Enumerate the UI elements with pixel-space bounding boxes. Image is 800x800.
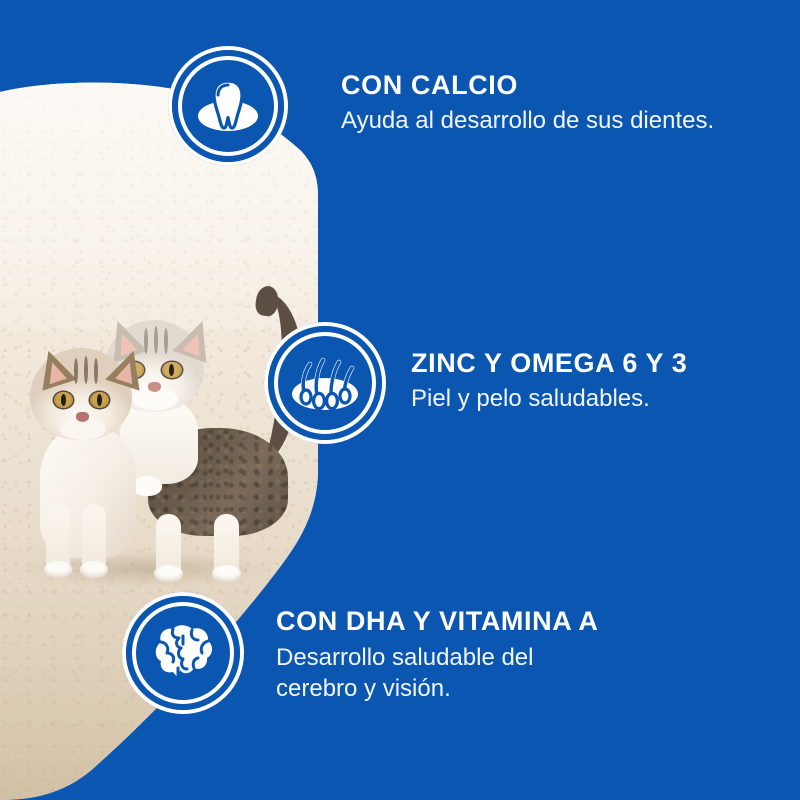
dha-subtitle-line2: cerebro y visión.: [276, 673, 599, 705]
kitten-paw: [44, 561, 72, 578]
hair-follicle-icon: [289, 352, 361, 414]
zinc-subtitle: Piel y pelo saludables.: [411, 383, 687, 415]
calcium-subtitle: Ayuda al desarrollo de sus dientes.: [341, 105, 714, 137]
dha-subtitle: Desarrollo saludable del cerebro y visió…: [276, 642, 599, 705]
kitten-leg: [214, 514, 239, 580]
kitten-forehead-stripe: [94, 358, 98, 384]
kitten-ear-right: [105, 345, 150, 390]
badge-inner-disc: [274, 332, 376, 434]
tooth-icon: [195, 76, 261, 136]
dha-subtitle-line1: Desarrollo saludable del: [276, 644, 533, 671]
kitten-leg: [46, 504, 70, 576]
zinc-subtitle-line1: Piel y pelo saludables.: [411, 385, 650, 412]
badge-inner-disc: [178, 56, 278, 156]
kitten-paw: [212, 565, 241, 582]
kitten-paw: [80, 561, 108, 578]
badge-inner-disc: [132, 602, 234, 704]
dha-icon-badge: [122, 592, 244, 714]
calcium-text-block: CON CALCIO Ayuda al desarrollo de sus di…: [341, 71, 714, 137]
dha-title: CON DHA Y VITAMINA A: [276, 607, 599, 635]
kitten-brown-tabby: [18, 330, 193, 580]
calcium-subtitle-line1: Ayuda al desarrollo de sus dientes.: [341, 107, 714, 134]
feature-calcium: CON CALCIO Ayuda al desarrollo de sus di…: [168, 46, 714, 166]
kitten-eye-left: [54, 392, 73, 408]
dha-text-block: CON DHA Y VITAMINA A Desarrollo saludabl…: [276, 607, 599, 705]
kitten-head: [30, 348, 132, 440]
kitten-forehead-stripe: [74, 358, 78, 384]
calcium-title: CON CALCIO: [341, 71, 714, 99]
feature-dha-vitamin-a: CON DHA Y VITAMINA A Desarrollo saludabl…: [122, 592, 599, 714]
brain-icon: [147, 622, 219, 684]
kitten-leg: [82, 504, 106, 576]
kitten-ear-left: [31, 345, 76, 390]
zinc-title: ZINC Y OMEGA 6 Y 3: [411, 349, 687, 377]
zinc-text-block: ZINC Y OMEGA 6 Y 3 Piel y pelo saludable…: [411, 349, 687, 415]
kitten-nose: [76, 412, 89, 422]
kitten-forehead-stripe: [84, 356, 88, 384]
zinc-icon-badge: [264, 322, 386, 444]
calcium-icon-badge: [168, 46, 288, 166]
infographic-banner: CON CALCIO Ayuda al desarrollo de sus di…: [0, 0, 800, 800]
kitten-eye-right: [90, 392, 109, 408]
feature-zinc-omega: ZINC Y OMEGA 6 Y 3 Piel y pelo saludable…: [264, 322, 687, 444]
